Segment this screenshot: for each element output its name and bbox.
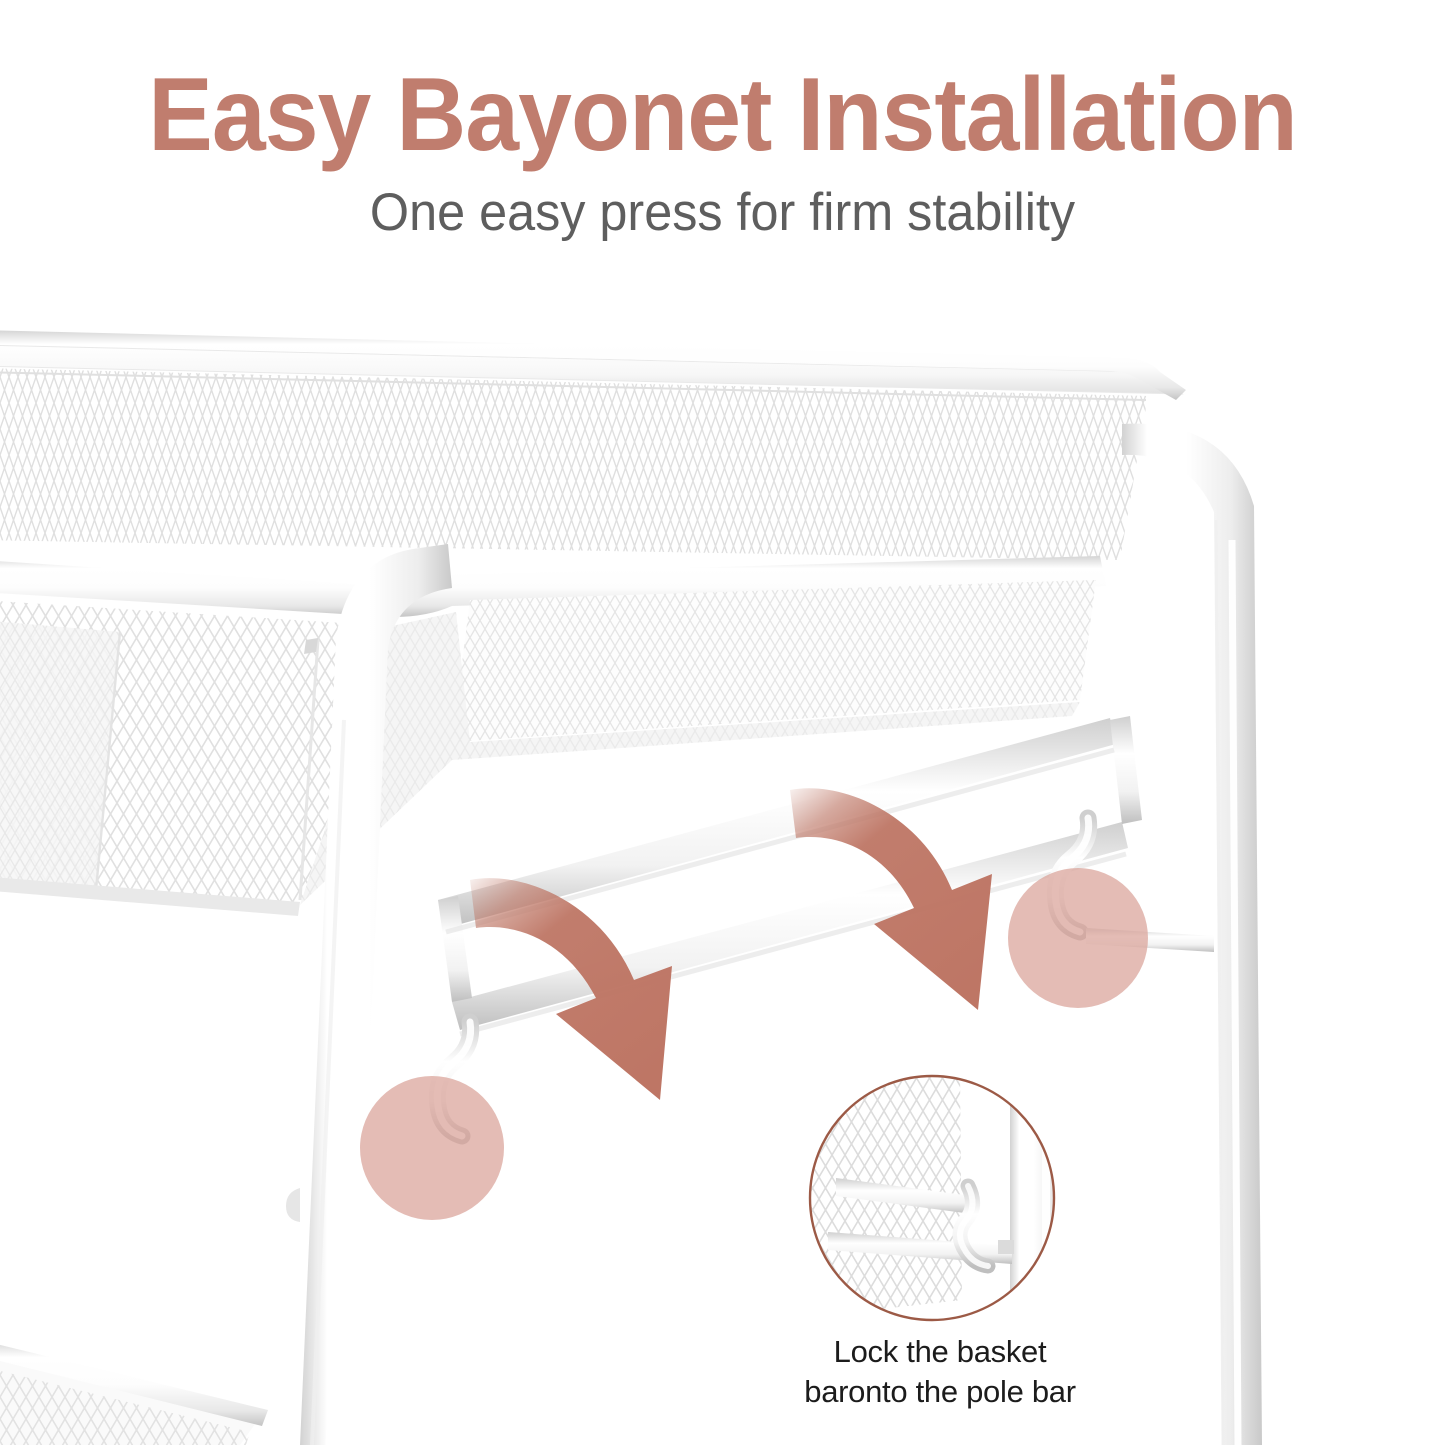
hook-highlight-left xyxy=(360,1076,504,1220)
top-mesh-basket xyxy=(0,330,1186,916)
header: Easy Bayonet Installation One easy press… xyxy=(0,0,1445,243)
bottom-mesh-basket xyxy=(0,1340,268,1445)
lock-detail-inset xyxy=(790,1060,1062,1330)
caption-line-1: Lock the basket xyxy=(700,1332,1180,1372)
page-title: Easy Bayonet Installation xyxy=(51,0,1395,168)
lock-detail-caption: Lock the basket baronto the pole bar xyxy=(700,1332,1180,1411)
hook-highlight-right xyxy=(1008,868,1148,1008)
caption-line-2: baronto the pole bar xyxy=(700,1372,1180,1412)
infographic-canvas: Easy Bayonet Installation One easy press… xyxy=(0,0,1445,1445)
page-subtitle: One easy press for firm stability xyxy=(36,168,1409,243)
